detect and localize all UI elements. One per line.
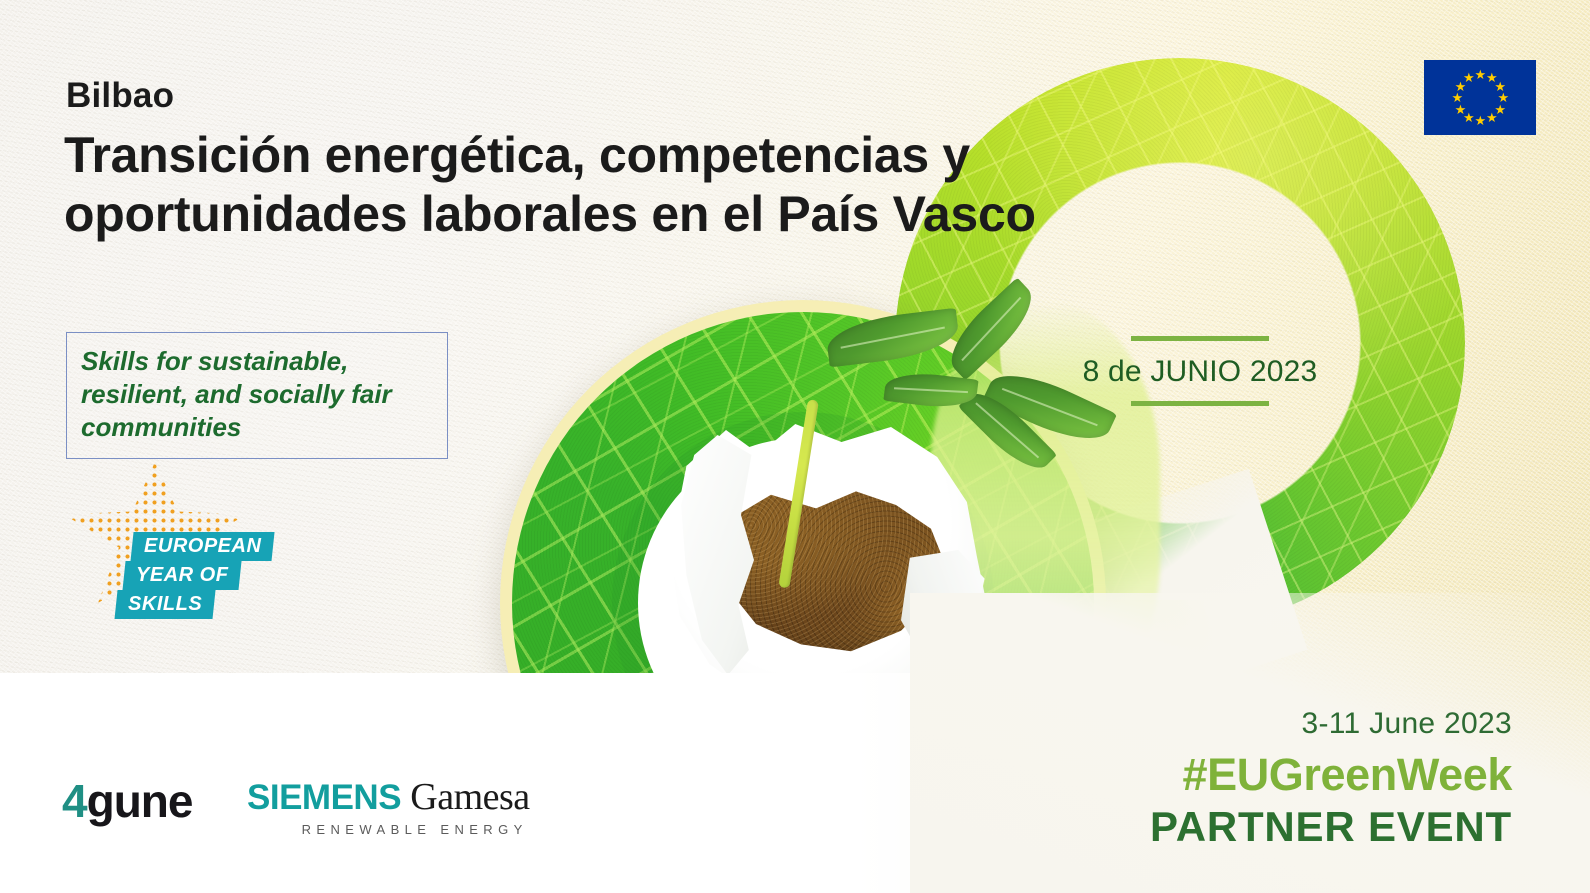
siemens-word: SIEMENS — [247, 778, 401, 817]
page-title: Transición energética, competencias y op… — [64, 126, 1284, 244]
siemens-gamesa-wordmark: SIEMENS Gamesa — [247, 778, 530, 816]
eys-label-3: SKILLS — [128, 593, 202, 615]
european-year-of-skills-logo: EUROPEAN YEAR OF SKILLS — [60, 462, 310, 637]
eu-flag-star-icon: ★ — [1486, 112, 1497, 123]
city-label: Bilbao — [66, 76, 174, 116]
event-date-text: 8 de JUNIO 2023 — [1055, 341, 1345, 401]
eu-green-week-block: 3-11 June 2023 #EUGreenWeek PARTNER EVEN… — [1150, 707, 1512, 851]
eys-banner-line-3: SKILLS — [114, 590, 215, 619]
green-week-hashtag: #EUGreenWeek — [1150, 749, 1512, 801]
eu-flag-star-icon: ★ — [1455, 104, 1466, 115]
eu-flag-star-icon: ★ — [1475, 115, 1486, 126]
gamesa-word: Gamesa — [410, 776, 529, 818]
green-week-dates: 3-11 June 2023 — [1150, 707, 1512, 741]
logo-siemens-gamesa: SIEMENS Gamesa RENEWABLE ENERGY — [247, 778, 530, 837]
event-poster: Bilbao Transición energética, competenci… — [0, 0, 1590, 893]
eu-flag-icon: ★★★★★★★★★★★★ — [1424, 60, 1536, 135]
date-rule-bottom — [1131, 401, 1269, 406]
logo-4gune-numeral: 4 — [62, 775, 87, 827]
eys-label-1: EUROPEAN — [144, 535, 261, 557]
eu-flag-star-icon: ★ — [1475, 69, 1486, 80]
eys-label-2: YEAR OF — [136, 564, 228, 586]
event-date-block: 8 de JUNIO 2023 — [1055, 336, 1345, 406]
logo-4gune-word: gune — [87, 775, 193, 827]
eu-flag-star-icon: ★ — [1463, 72, 1474, 83]
logo-4gune: 4gune — [62, 774, 192, 828]
subtitle-text: Skills for sustainable, resilient, and s… — [81, 345, 433, 444]
siemens-gamesa-tagline: RENEWABLE ENERGY — [247, 822, 530, 837]
partner-event-label: PARTNER EVENT — [1150, 803, 1512, 851]
subtitle-box: Skills for sustainable, resilient, and s… — [66, 332, 448, 459]
eys-banner-line-1: EUROPEAN — [130, 532, 274, 561]
eys-banner-line-2: YEAR OF — [122, 561, 241, 590]
eu-flag-star-icon: ★ — [1452, 92, 1463, 103]
